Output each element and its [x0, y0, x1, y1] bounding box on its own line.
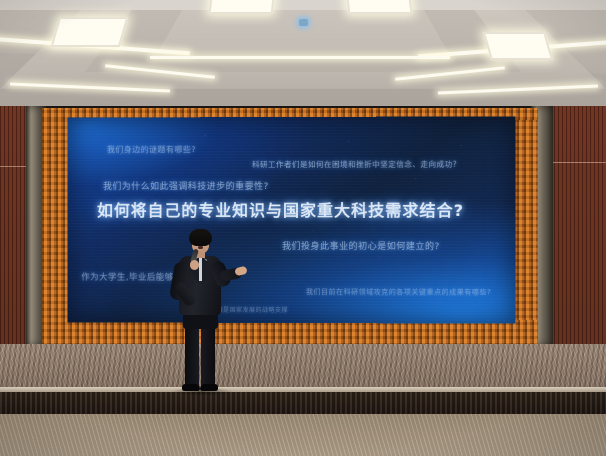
cove-light-strip-center: [150, 56, 450, 59]
presenter-hand-left: [190, 260, 199, 270]
presenter: [163, 229, 243, 395]
acoustic-slat-panel-bottom: [42, 320, 538, 346]
ceiling: [0, 0, 606, 120]
presenter-shoe-left: [182, 384, 200, 391]
smoke-detector-icon: [299, 19, 308, 26]
presentation-photo-scene: 我们身边的谜题有哪些? 科研工作者们是如何在困境和挫折中坚定信念、走向成功? 我…: [0, 0, 606, 456]
ceiling-light-panel-4: [483, 32, 553, 60]
ceiling-light-panel-2: [209, 0, 276, 14]
stage-carpet-texture: [0, 344, 606, 392]
screen-text-line-2: 科研工作者们是如何在困境和挫折中坚定信念、走向成功?: [252, 159, 457, 170]
presenter-leg-left: [185, 325, 199, 387]
led-presentation-screen: 我们身边的谜题有哪些? 科研工作者们是如何在困境和挫折中坚定信念、走向成功? 我…: [67, 116, 515, 323]
presenter-hair: [189, 229, 212, 246]
presenter-shoe-right: [200, 384, 218, 391]
screen-text-line-3: 我们为什么如此强调科技进步的重要性?: [103, 179, 269, 192]
ceiling-soffit: [0, 0, 606, 10]
acoustic-slat-panel-left: [42, 108, 70, 346]
stage-riser: [0, 392, 606, 416]
presenter-leg-right: [201, 325, 215, 387]
wood-wall-panel-right: [546, 106, 606, 346]
screen-headline: 如何将自己的专业知识与国家重大科技需求结合?: [97, 197, 464, 221]
screen-text-line-5: 我们投身此事业的初心是如何建立的?: [282, 239, 440, 252]
ceiling-light-panel-3: [346, 0, 413, 14]
screen-text-line-7: 我们目前在科研领域攻克的各项关键重点的成果有哪些?: [306, 287, 491, 297]
presenter-mouth: [198, 246, 203, 249]
ceiling-light-panel-1: [51, 17, 129, 47]
screen-text-line-1: 我们身边的谜题有哪些?: [107, 144, 196, 155]
audience-floor: [0, 414, 606, 456]
